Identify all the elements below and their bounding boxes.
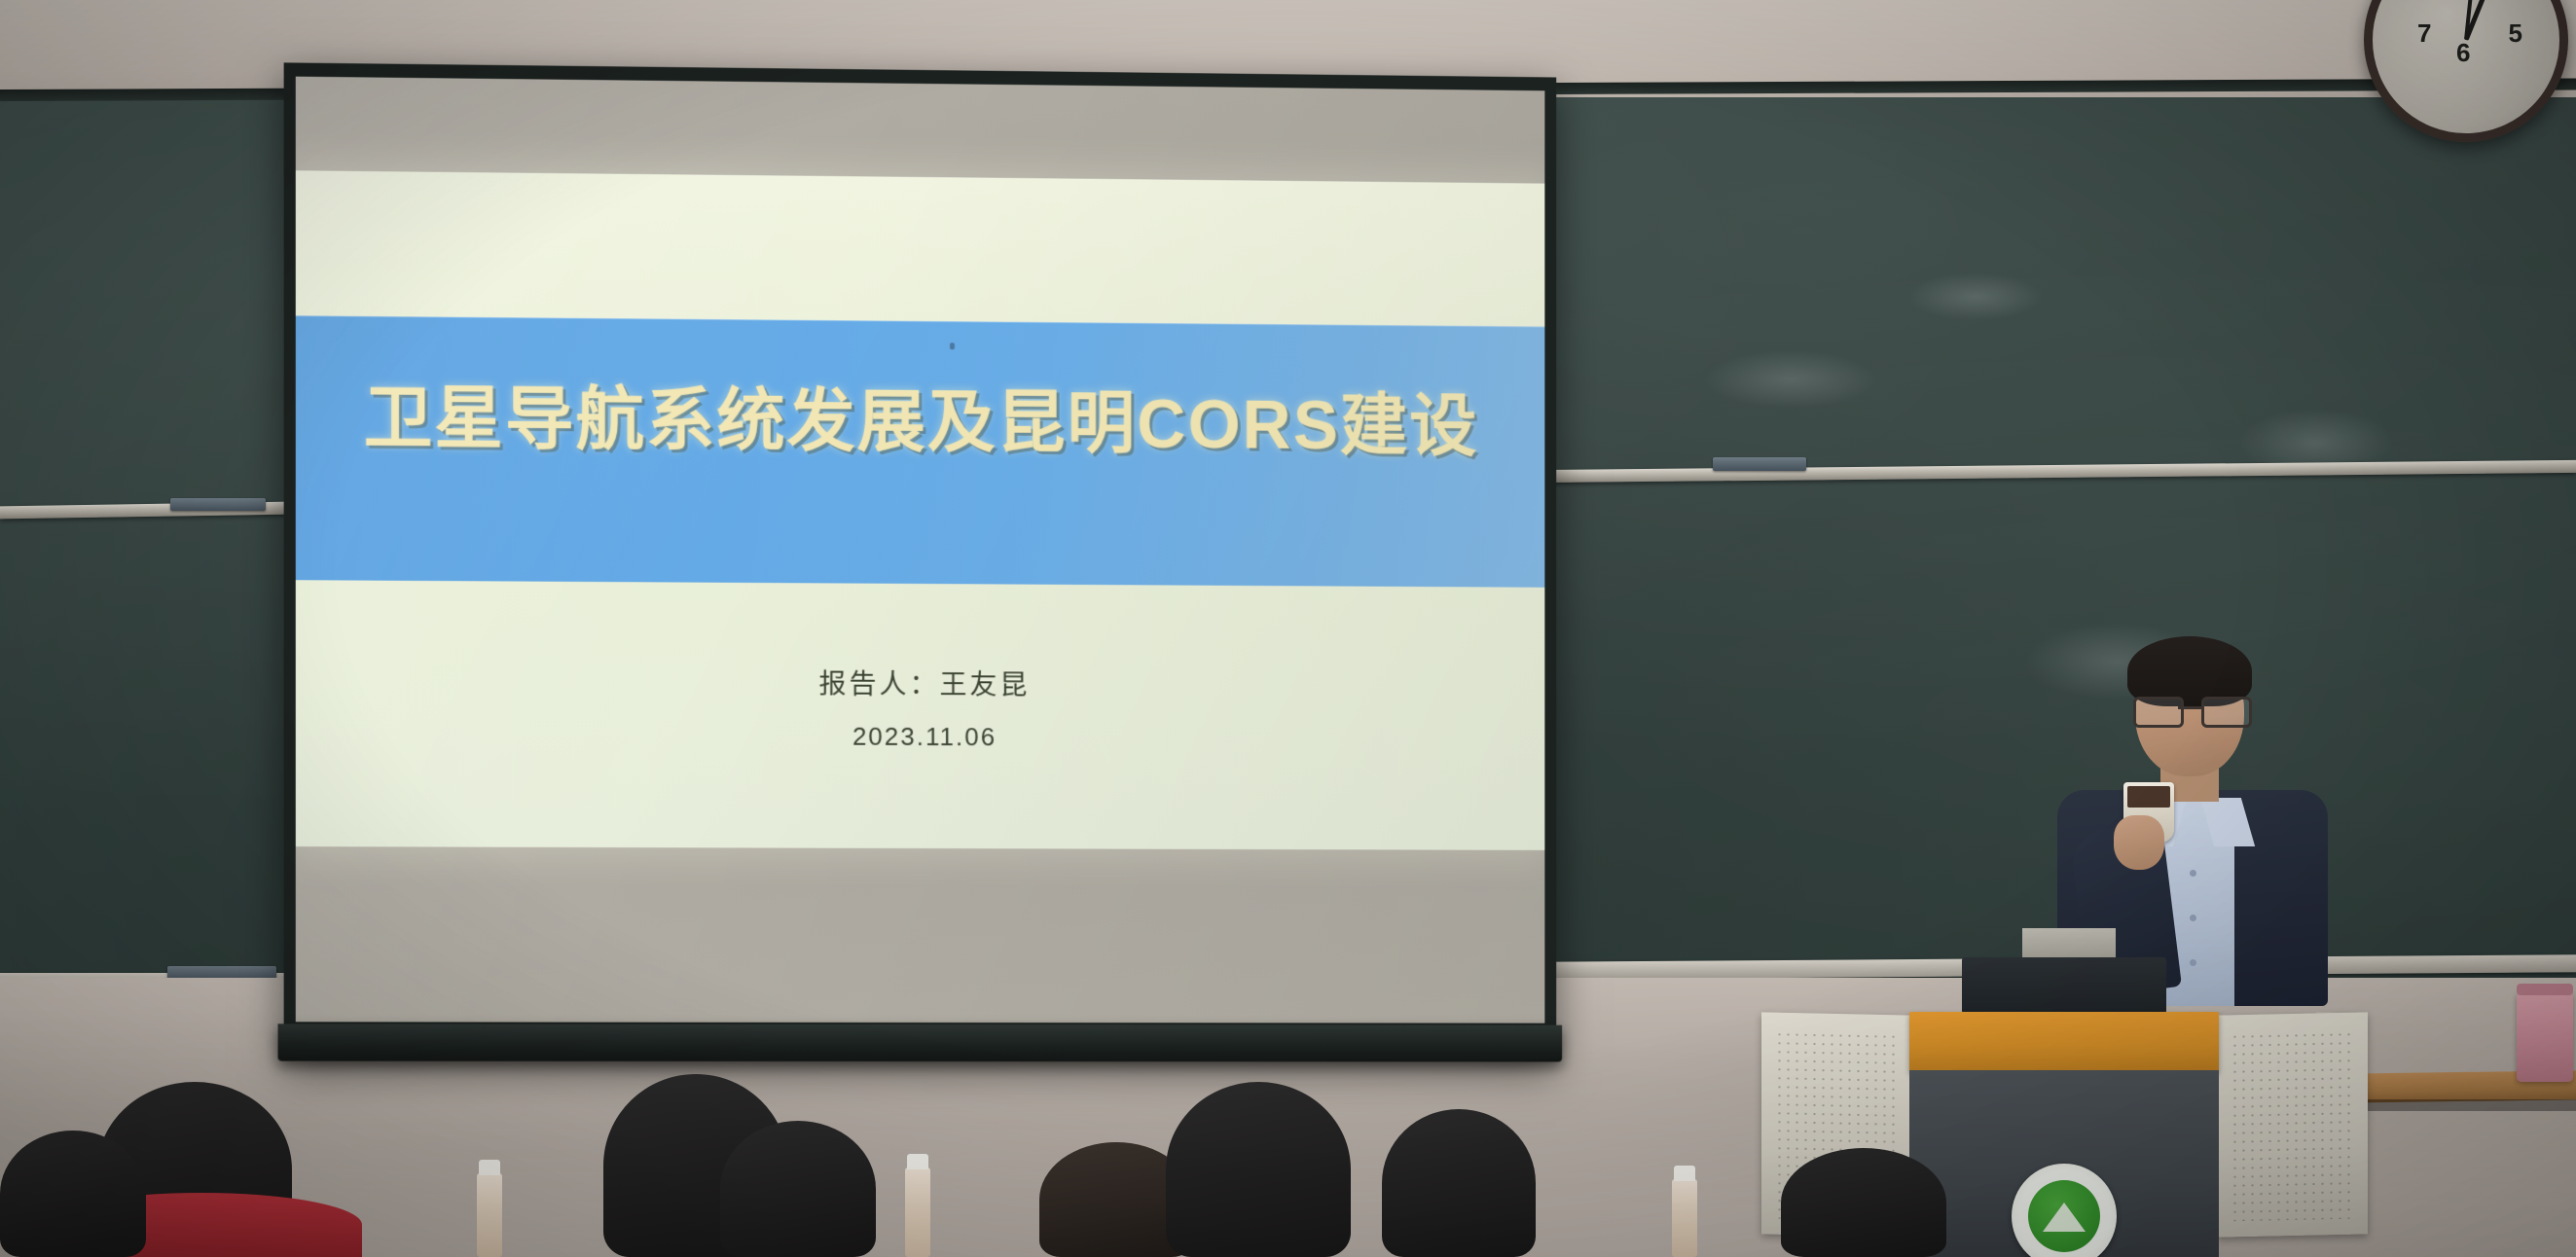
slide-title: 卫星导航系统发展及昆明CORS建设 [296,363,1545,471]
water-bottle[interactable] [1672,1179,1697,1257]
thermos-lid [2517,984,2573,995]
podium-body [1909,1070,2219,1257]
side-desk-shadow [2343,1099,2576,1111]
slide-speck [950,342,955,349]
clock-numeral-4: 4 [2522,0,2536,4]
lecture-hall-photo: 4 5 6 7 8 卫星导航系统发展及昆明CORS建设 报告人：王友昆 2023… [0,0,2576,1257]
audience-head [1382,1109,1536,1257]
slide-presenter: 报告人：王友昆 [296,661,1545,705]
bottle-cap [907,1154,928,1169]
clock-numeral-5: 5 [2509,18,2522,49]
screen-surface: 卫星导航系统发展及昆明CORS建设 报告人：王友昆 2023.11.06 [296,77,1545,1024]
podium-top-panel [1909,1012,2219,1072]
audience-head [1781,1148,1946,1257]
clock-numeral-6: 6 [2456,38,2470,68]
shirt-button [2190,915,2196,921]
podium-microphone-box[interactable] [1962,957,2166,1014]
clock-numeral-8: 8 [2400,0,2413,4]
projection-screen: 卫星导航系统发展及昆明CORS建设 报告人：王友昆 2023.11.06 [284,62,1557,1058]
projected-slide: 卫星导航系统发展及昆明CORS建设 报告人：王友昆 2023.11.06 [296,170,1545,850]
shirt-button [2190,959,2196,966]
pink-thermos[interactable] [2517,992,2573,1082]
clock-numeral-7: 7 [2417,18,2431,49]
shirt-button [2190,870,2196,877]
bottle-cap [1674,1166,1695,1181]
bottle-cap [479,1160,500,1175]
water-bottle[interactable] [905,1167,930,1257]
cup-liquid [2127,786,2170,808]
speaker-mesh [2231,1030,2354,1222]
slide-date: 2023.11.06 [296,719,1545,754]
water-bottle[interactable] [477,1173,502,1257]
emblem-inner [2028,1180,2100,1252]
audience-head [0,1131,146,1257]
university-emblem [2012,1164,2117,1257]
audience-head [1166,1082,1351,1257]
blackboard-eraser[interactable] [170,498,266,511]
emblem-mark-icon [2043,1203,2086,1232]
screen-bottom-bar [278,1024,1563,1061]
audience-head [720,1121,876,1257]
glasses-icon [2133,697,2246,722]
presenter-hand [2114,815,2164,870]
blackboard-eraser[interactable] [1713,457,1806,471]
podium-speaker-panel-right [2217,1012,2368,1237]
